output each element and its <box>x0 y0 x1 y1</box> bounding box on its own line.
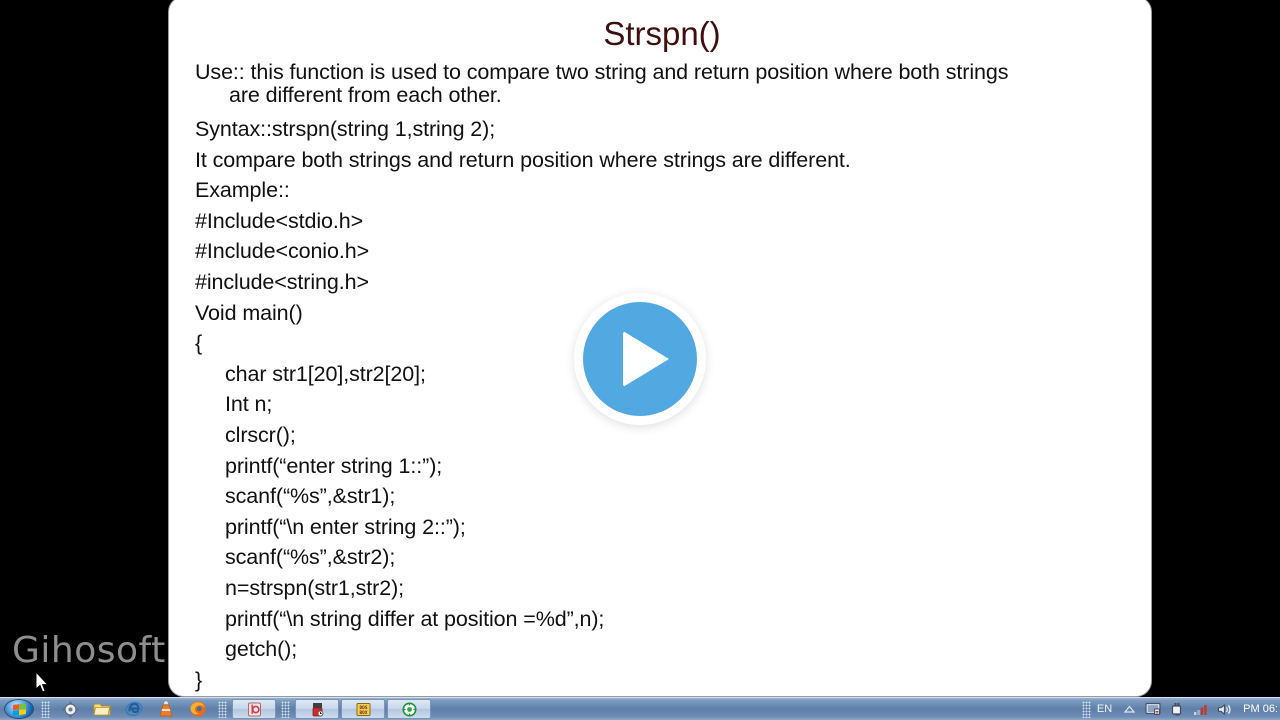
red-app-window-button[interactable] <box>295 699 339 719</box>
watermark-label: Gihosoft <box>12 630 166 671</box>
slide-line-describe: It compare both strings and return posit… <box>195 145 1129 176</box>
volume-icon[interactable] <box>1215 700 1235 718</box>
show-desktop-icon[interactable] <box>59 699 81 719</box>
slide-line-include-stdio: #Include<stdio.h> <box>195 206 1129 237</box>
mouse-cursor-icon <box>36 672 50 694</box>
slide-line-syntax: Syntax::strspn(string 1,string 2); <box>195 114 1129 145</box>
video-player-area[interactable]: Strspn() Use:: this function is used to … <box>0 0 1280 697</box>
vlc-icon[interactable] <box>155 699 177 719</box>
usb-device-icon[interactable] <box>1167 700 1187 718</box>
start-button[interactable] <box>1 698 37 720</box>
green-app-icon <box>402 702 417 717</box>
quick-launch-grip[interactable] <box>41 701 50 718</box>
language-indicator[interactable]: EN <box>1097 703 1112 715</box>
green-app-window-button[interactable] <box>387 699 431 719</box>
show-hidden-icons-icon[interactable] <box>1119 700 1139 718</box>
screen: Strspn() Use:: this function is used to … <box>0 0 1280 720</box>
slide-title: Strspn() <box>195 13 1129 55</box>
firefox-icon[interactable] <box>187 699 209 719</box>
svg-text:BOX: BOX <box>359 709 367 715</box>
explorer-icon[interactable] <box>91 699 113 719</box>
slide-line-example: Example:: <box>195 175 1129 206</box>
slide-line-printf-2: printf(“\n enter string 2::”); <box>195 512 1129 543</box>
window-group-grip-1[interactable] <box>281 701 290 718</box>
slide-line-include-conio: #Include<conio.h> <box>195 236 1129 267</box>
slide-line-close-brace: } <box>195 665 1129 696</box>
internet-explorer-icon[interactable] <box>123 699 145 719</box>
red-app-icon <box>310 702 325 717</box>
slide-line-use-continuation: are different from each other. <box>195 84 1129 107</box>
slide-line-getch: getch(); <box>195 634 1129 665</box>
slide-line-printf-1: printf(“enter string 1::”); <box>195 451 1129 482</box>
slide-line-use-text: Use:: this function is used to compare t… <box>195 60 1008 84</box>
network-icon[interactable] <box>1191 700 1211 718</box>
slide-line-scanf-1: scanf(“%s”,&str1); <box>195 481 1129 512</box>
media-app-icon <box>247 702 262 717</box>
tray-grip[interactable] <box>1082 701 1091 718</box>
taskbar: DOS BOX EN <box>0 697 1280 720</box>
monitor-icon[interactable] <box>1143 700 1163 718</box>
system-tray: EN <box>1078 698 1280 720</box>
slide-line-clrscr: clrscr(); <box>195 420 1129 451</box>
slide-line-use: Use:: this function is used to compare t… <box>195 61 1129 107</box>
slide-line-include-string: #include<string.h> <box>195 267 1129 298</box>
taskbar-windows-grip[interactable] <box>218 701 227 718</box>
slide-line-call-strspn: n=strspn(str1,str2); <box>195 573 1129 604</box>
slide-line-scanf-2: scanf(“%s”,&str2); <box>195 542 1129 573</box>
play-triangle-icon <box>623 331 669 387</box>
dosbox-window-button[interactable]: DOS BOX <box>341 699 385 719</box>
slide-line-printf-3: printf(“\n string differ at position =%d… <box>195 604 1129 635</box>
media-window-button[interactable] <box>232 699 276 719</box>
play-icon <box>583 302 697 416</box>
taskbar-clock[interactable]: PM 06: <box>1243 703 1278 715</box>
dosbox-icon: DOS BOX <box>356 702 371 717</box>
play-button[interactable] <box>574 293 706 425</box>
windows-logo-icon <box>4 699 34 719</box>
